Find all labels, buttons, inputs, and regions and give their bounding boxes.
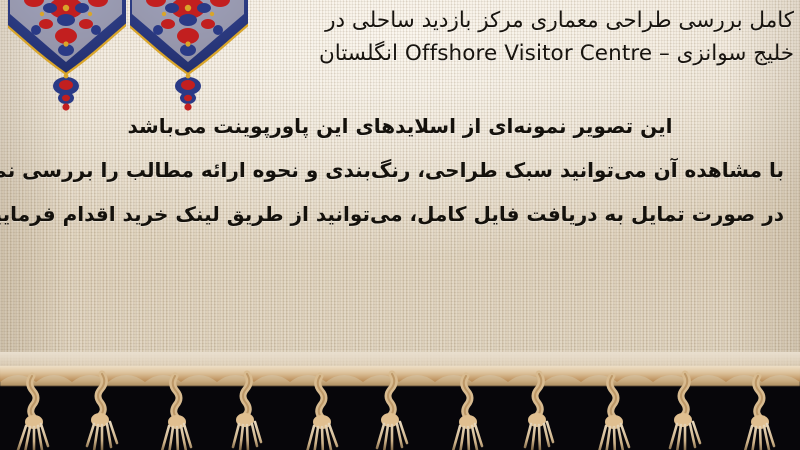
- title-line-1: کامل بررسی طراحی معماری مرکز بازدید ساحل…: [232, 4, 794, 37]
- slide-canvas: کامل بررسی طراحی معماری مرکز بازدید ساحل…: [0, 0, 800, 450]
- body-line-2: با مشاهده آن می‌توانید سبک طراحی، رنگ‌بن…: [16, 148, 784, 192]
- slide-title: کامل بررسی طراحی معماری مرکز بازدید ساحل…: [232, 4, 794, 70]
- slide-body: این تصویر نمونه‌ای از اسلایدهای این پاور…: [16, 104, 784, 236]
- carpet-medallion-pendant-right-icon: [130, 0, 248, 112]
- title-line-2: خلیج سوانزی – Offshore Visitor Centre ان…: [232, 37, 794, 70]
- carpet-fringe: [0, 352, 800, 450]
- fringe-tassels-icon: [0, 352, 800, 450]
- body-line-1: این تصویر نمونه‌ای از اسلایدهای این پاور…: [16, 104, 784, 148]
- body-line-3: در صورت تمایل به دریافت فایل کامل، می‌تو…: [16, 192, 784, 236]
- carpet-medallion-pendant-left-icon: [8, 0, 126, 112]
